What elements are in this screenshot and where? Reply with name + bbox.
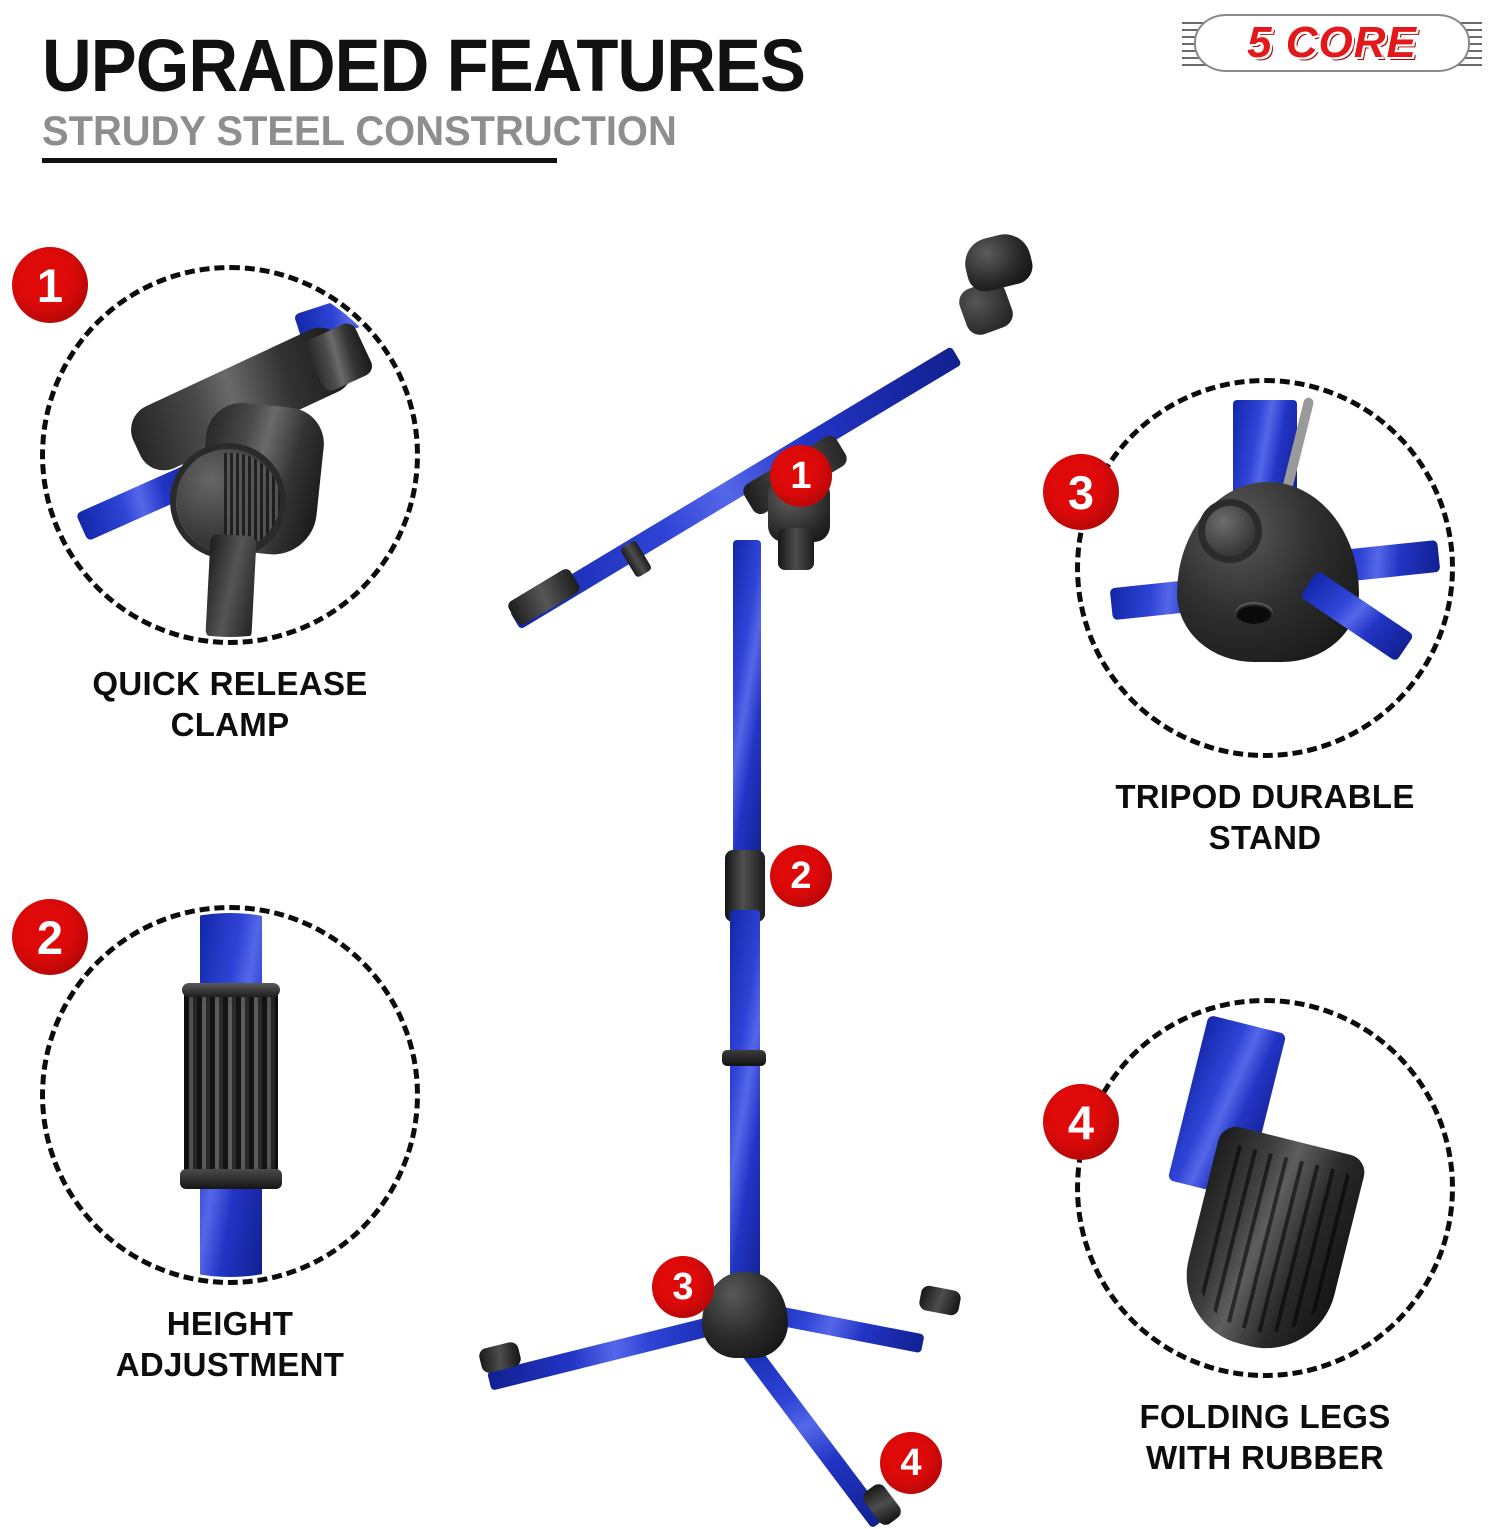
callout-circle: 2: [40, 905, 420, 1285]
product-pin-1: 1: [770, 445, 832, 507]
page-subtitle: STRUDY STEEL CONSTRUCTION: [42, 108, 677, 154]
product-image-mic-stand: [430, 210, 1050, 1500]
callout-circle: 1: [40, 265, 420, 645]
callout-caption-1: QUICK RELEASE CLAMP: [20, 663, 440, 745]
caption-line-2: CLAMP: [20, 704, 440, 745]
upper-pole: [733, 540, 761, 870]
caption-line-2: ADJUSTMENT: [20, 1344, 440, 1385]
product-pin-3: 3: [652, 1256, 714, 1318]
callout-caption-3: TRIPOD DURABLE STAND: [1055, 776, 1475, 858]
mic-holder-clip: [960, 229, 1037, 295]
page-title: UPGRADED FEATURES: [42, 26, 805, 106]
callout-badge-3: 3: [1043, 454, 1119, 530]
rubber-foot-right: [918, 1284, 962, 1316]
tripod-hub: [702, 1272, 788, 1358]
dashed-circle-border: [1075, 378, 1455, 758]
callout-badge-4: 4: [1043, 1084, 1119, 1160]
caption-line-2: STAND: [1055, 817, 1475, 858]
base-leg-left: [487, 1312, 732, 1390]
caption-line-2: WITH RUBBER: [1055, 1437, 1475, 1478]
caption-line-1: FOLDING LEGS: [1055, 1396, 1475, 1437]
dashed-circle-border: [40, 265, 420, 645]
callout-folding-legs-with-rubber: 4 FOLDING LEGS WITH RUBBER: [1055, 998, 1475, 1478]
callout-quick-release-clamp: 1 QUICK RELEASE CLAMP: [20, 265, 440, 745]
callout-badge-1: 1: [12, 247, 88, 323]
title-underline-rule: [42, 158, 557, 163]
page-header: UPGRADED FEATURES STRUDY STEEL CONSTRUCT…: [0, 0, 1500, 200]
caption-line-1: QUICK RELEASE: [20, 663, 440, 704]
callout-caption-2: HEIGHT ADJUSTMENT: [20, 1303, 440, 1385]
logo-text: 5 CORE: [1182, 12, 1482, 74]
lower-pole: [730, 910, 760, 1310]
caption-line-1: TRIPOD DURABLE: [1055, 776, 1475, 817]
callout-tripod-durable-stand: 3 TRIPOD DURABLE STAND: [1055, 378, 1475, 858]
product-pin-4: 4: [880, 1432, 942, 1494]
callout-circle: 4: [1075, 998, 1455, 1378]
callout-circle: 3: [1075, 378, 1455, 758]
callout-caption-4: FOLDING LEGS WITH RUBBER: [1055, 1396, 1475, 1478]
pole-cable-clip: [722, 1050, 766, 1066]
callout-height-adjustment: 2 HEIGHT ADJUSTMENT: [20, 905, 440, 1385]
boom-arm-assembly: [465, 220, 985, 640]
caption-line-1: HEIGHT: [20, 1303, 440, 1344]
brand-logo: 5 CORE: [1182, 12, 1482, 74]
dashed-circle-border: [1075, 998, 1455, 1378]
dashed-circle-border: [40, 905, 420, 1285]
callout-badge-2: 2: [12, 899, 88, 975]
boom-mount-collar: [778, 528, 814, 570]
product-pin-2: 2: [770, 845, 832, 907]
